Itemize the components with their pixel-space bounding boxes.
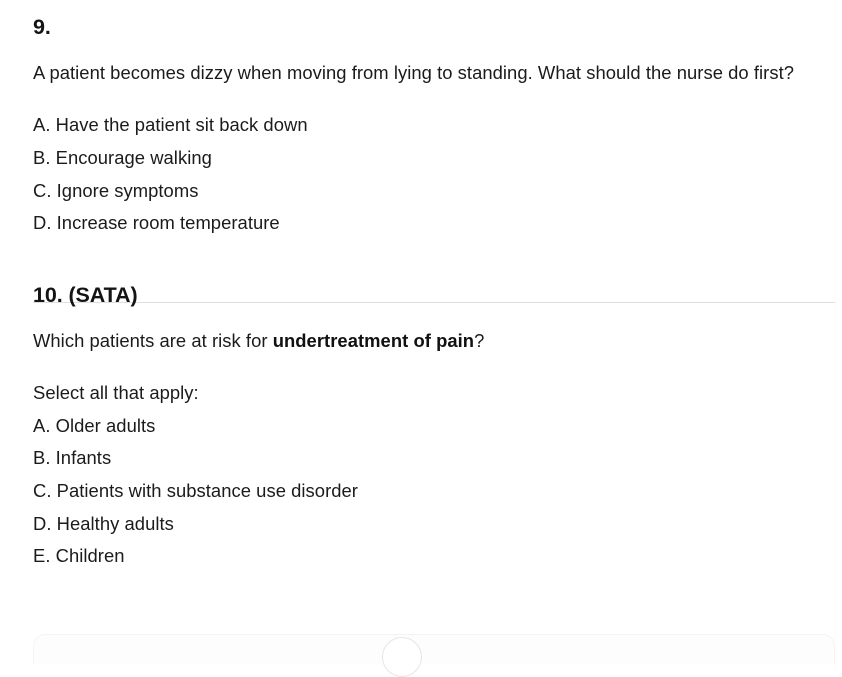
option-9-c[interactable]: C. Ignore symptoms [33, 175, 809, 208]
question-block-10: 10. (SATA) Which patients are at risk fo… [33, 240, 809, 573]
select-all-hint: Select all that apply: [33, 377, 809, 410]
question-stem-9-text: A patient becomes dizzy when moving from… [33, 62, 794, 83]
options-list-9: A. Have the patient sit back down B. Enc… [33, 88, 809, 239]
quiz-sheet: 9. A patient becomes dizzy when moving f… [0, 0, 842, 650]
question-block-9: 9. A patient becomes dizzy when moving f… [33, 0, 809, 240]
option-10-a[interactable]: A. Older adults [33, 410, 809, 443]
option-9-a[interactable]: A. Have the patient sit back down [33, 109, 809, 142]
options-list-10: Select all that apply: A. Older adults B… [33, 356, 809, 573]
option-9-d[interactable]: D. Increase room temperature [33, 207, 809, 240]
option-10-d[interactable]: D. Healthy adults [33, 508, 809, 541]
question-stem-10-emphasis: undertreatment of pain [273, 330, 474, 351]
option-10-e[interactable]: E. Children [33, 540, 809, 573]
option-10-c[interactable]: C. Patients with substance use disorder [33, 475, 809, 508]
option-10-b[interactable]: B. Infants [33, 442, 809, 475]
question-stem-10-suffix: ? [474, 330, 484, 351]
question-number-10: 10. (SATA) [33, 240, 809, 309]
question-stem-10-prefix: Which patients are at risk for [33, 330, 273, 351]
question-stem-9: A patient becomes dizzy when moving from… [33, 41, 809, 89]
circular-button[interactable] [382, 637, 422, 677]
option-9-b[interactable]: B. Encourage walking [33, 142, 809, 175]
bottom-panel [33, 634, 835, 664]
question-number-9: 9. [33, 0, 809, 41]
question-stem-10: Which patients are at risk for undertrea… [33, 309, 809, 357]
